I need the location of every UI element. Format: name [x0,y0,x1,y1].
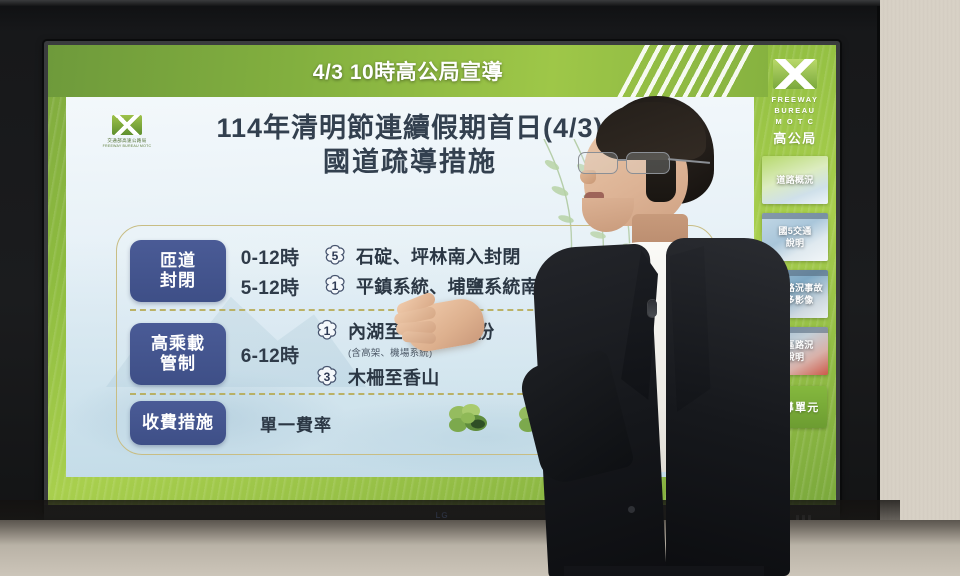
highway-badge-icon: 1 [314,319,340,343]
freeway-bureau-logo-icon [773,59,817,89]
room-scene: 4/3 10時高公局宣導 [0,0,960,576]
badge-number: 1 [314,319,340,343]
badge-number: 5 [322,244,348,268]
highway-badge-icon: 5 [322,244,348,268]
row-tag-line1: 高乘載 [151,334,205,354]
lapel-microphone-icon [648,300,657,317]
toll-value: 單一費率 [260,411,380,436]
presenter-legs [564,566,764,576]
presenter-finger-4 [402,331,437,344]
entry-text: 木柵至香山 [348,364,440,390]
tea-bush-icon [446,403,492,437]
presenter-jacket-button [628,506,635,513]
row-tag-line1: 收費措施 [142,413,214,433]
floor-strip [0,520,960,576]
badge-number: 3 [314,365,340,389]
glasses-bridge [618,159,627,161]
wall-right [880,0,960,576]
entry-time: 0-12時 [226,243,314,270]
row-tag-hov-control: 高乘載 管制 [130,323,226,385]
highway-badge-icon: 1 [322,274,348,298]
highway-badge-icon: 3 [314,365,340,389]
glasses-lens-right [626,152,670,174]
row-tag-line2: 封閉 [160,271,196,291]
slide-header-title: 4/3 10時高公局宣導 [48,45,768,97]
badge-number: 1 [322,274,348,298]
display-top-edge [0,0,880,6]
row-tag-line1: 匝道 [160,251,196,271]
glasses-lens-left [578,152,618,174]
row-tag-line2: 管制 [151,354,205,374]
glasses-icon [578,152,682,176]
entry-text: 石碇、坪林南入封閉 [356,243,521,269]
presenter-chin [582,198,634,232]
row-tag-toll-measure: 收費措施 [130,401,226,445]
presenter [540,96,790,576]
row-tag-ramp-closure: 匝道 封閉 [130,240,226,302]
presenter-hand [400,292,496,356]
row-time: 6-12時 [226,341,314,368]
entry-time: 5-12時 [226,273,314,300]
